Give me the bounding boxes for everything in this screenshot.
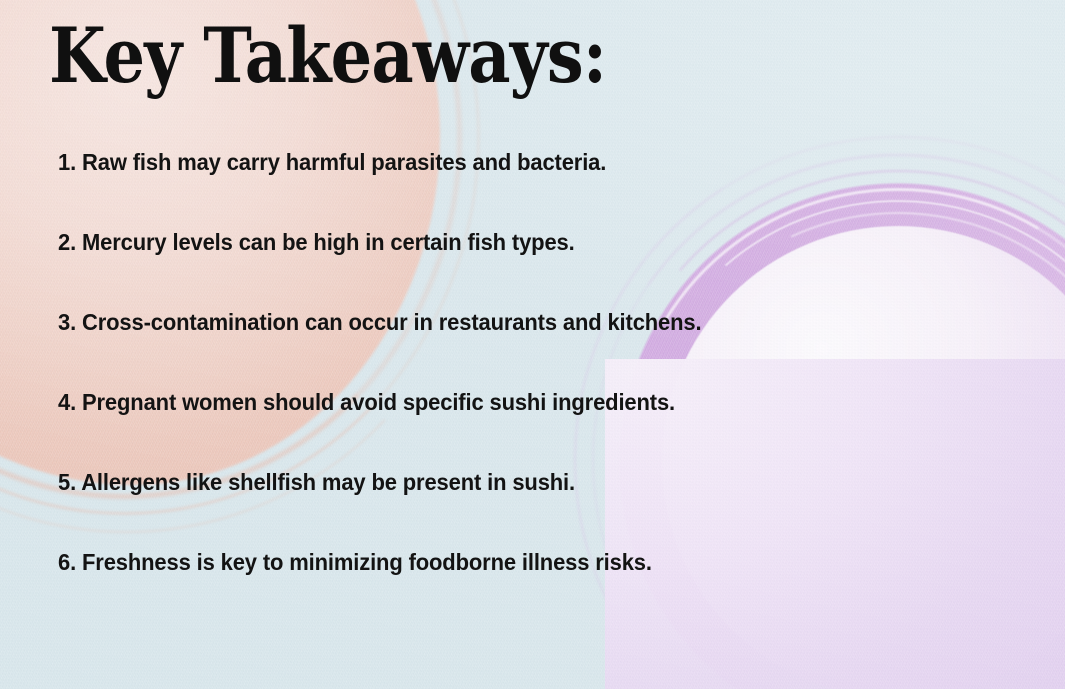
poster-content: Key Takeaways: 1. Raw fish may carry har… xyxy=(0,0,1065,689)
list-item: 1. Raw fish may carry harmful parasites … xyxy=(58,151,1008,231)
list-item: 2. Mercury levels can be high in certain… xyxy=(58,231,1008,311)
takeaway-text: 5. Allergens like shellfish may be prese… xyxy=(58,471,575,495)
takeaway-text: 3. Cross-contamination can occur in rest… xyxy=(58,311,701,335)
list-item: 6. Freshness is key to minimizing foodbo… xyxy=(58,551,1008,631)
list-item: 4. Pregnant women should avoid specific … xyxy=(58,391,1008,471)
takeaway-text: 2. Mercury levels can be high in certain… xyxy=(58,231,575,255)
key-takeaways-poster: Key Takeaways: 1. Raw fish may carry har… xyxy=(0,0,1065,689)
takeaway-text: 4. Pregnant women should avoid specific … xyxy=(58,391,675,415)
takeaway-text: 6. Freshness is key to minimizing foodbo… xyxy=(58,551,652,575)
takeaway-text: 1. Raw fish may carry harmful parasites … xyxy=(58,151,606,175)
list-item: 3. Cross-contamination can occur in rest… xyxy=(58,311,1008,391)
takeaways-list: 1. Raw fish may carry harmful parasites … xyxy=(58,151,1008,631)
page-title: Key Takeaways: xyxy=(49,18,606,94)
list-item: 5. Allergens like shellfish may be prese… xyxy=(58,471,1008,551)
